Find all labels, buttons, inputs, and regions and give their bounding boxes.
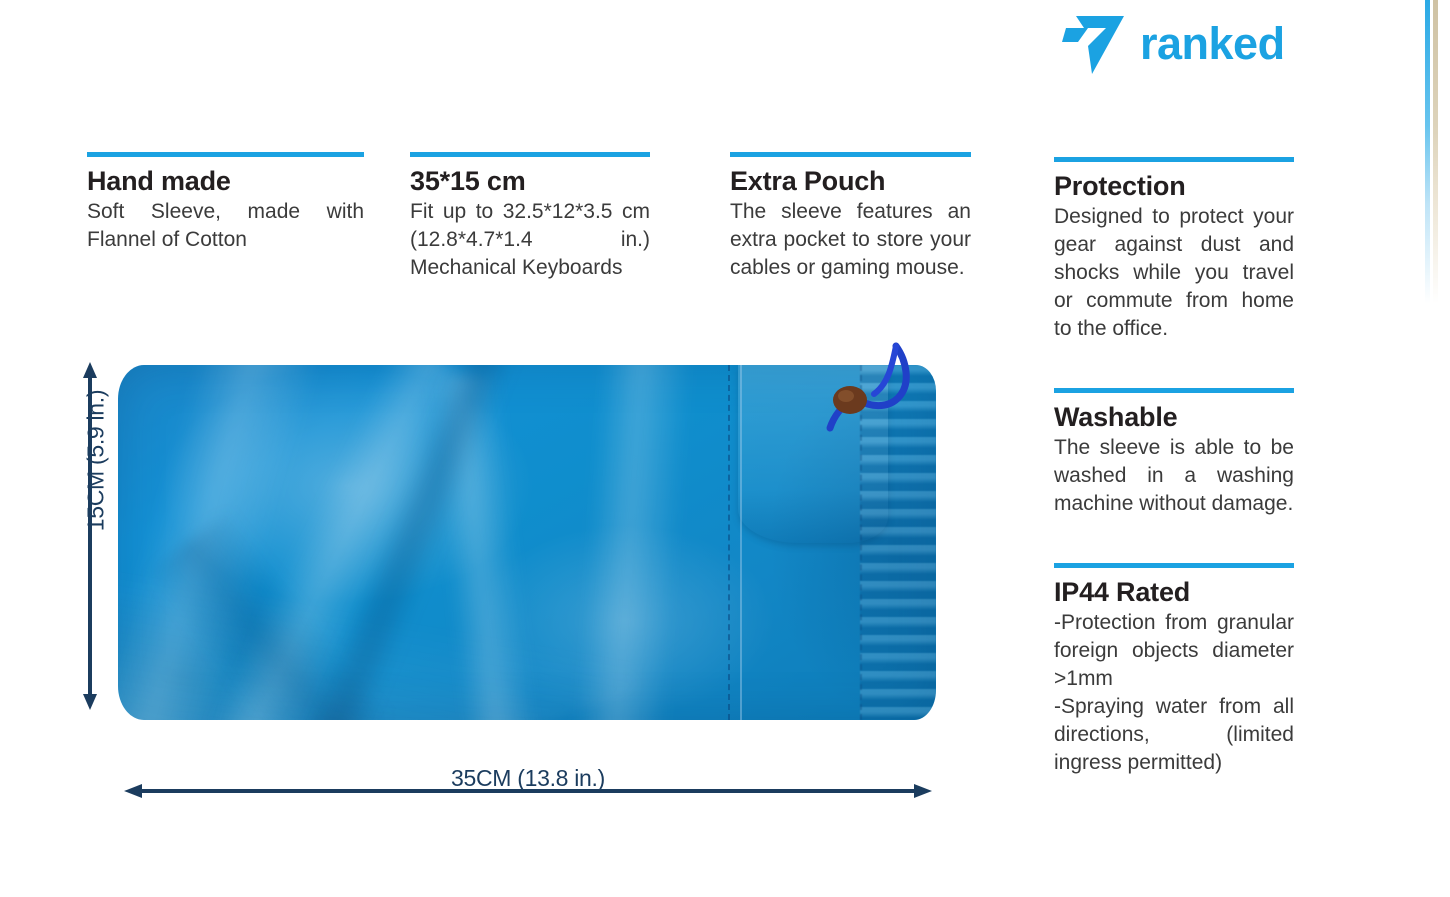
height-dimension-label: 15CM (5.9 in.): [83, 341, 110, 581]
infographic-page: ranked Hand made Soft Sleeve, made with …: [0, 0, 1450, 897]
feature-title: Extra Pouch: [730, 166, 971, 196]
feature-body: Fit up to 32.5*12*3.5 cm (12.8*4.7*1.4 i…: [410, 198, 650, 282]
feature-body: The sleeve is able to be washed in a was…: [1054, 434, 1294, 518]
accent-bar: [87, 152, 364, 157]
feature-title: Washable: [1054, 402, 1294, 432]
feature-title: 35*15 cm: [410, 166, 650, 196]
feature-title: Hand made: [87, 166, 364, 196]
feature-extra-pouch: Extra Pouch The sleeve features an extra…: [730, 152, 971, 282]
fabric-fold: [574, 365, 692, 720]
stitched-seam: [728, 365, 730, 720]
edge-stripe-blue: [1425, 0, 1430, 330]
brand-logo: ranked: [1062, 12, 1285, 74]
feature-washable: Washable The sleeve is able to be washed…: [1054, 388, 1294, 518]
drawstring-cord: [800, 340, 930, 450]
feature-body: Soft Sleeve, made with Flannel of Cotton: [87, 198, 364, 254]
feature-ip44-rated: IP44 Rated -Protection from granular for…: [1054, 563, 1294, 777]
arrow-r-logo-icon: [1062, 12, 1128, 74]
edge-stripe-decoration: [1420, 0, 1450, 330]
accent-bar: [1054, 157, 1294, 162]
feature-title: IP44 Rated: [1054, 577, 1294, 607]
accent-bar: [1054, 388, 1294, 393]
stitched-seam: [740, 365, 742, 720]
feature-body: Designed to protect your gear against du…: [1054, 203, 1294, 343]
accent-bar: [730, 152, 971, 157]
width-dimension-arrow: [124, 782, 932, 800]
feature-protection: Protection Designed to protect your gear…: [1054, 157, 1294, 343]
feature-body: The sleeve features an extra pocket to s…: [730, 198, 971, 282]
feature-title: Protection: [1054, 171, 1294, 201]
accent-bar: [1054, 563, 1294, 568]
feature-body: -Protection from granular foreign object…: [1054, 609, 1294, 777]
brand-name: ranked: [1140, 21, 1285, 66]
accent-bar: [410, 152, 650, 157]
feature-hand-made: Hand made Soft Sleeve, made with Flannel…: [87, 152, 364, 254]
edge-stripe-tan: [1433, 0, 1438, 330]
feature-dimensions: 35*15 cm Fit up to 32.5*12*3.5 cm (12.8*…: [410, 152, 650, 282]
